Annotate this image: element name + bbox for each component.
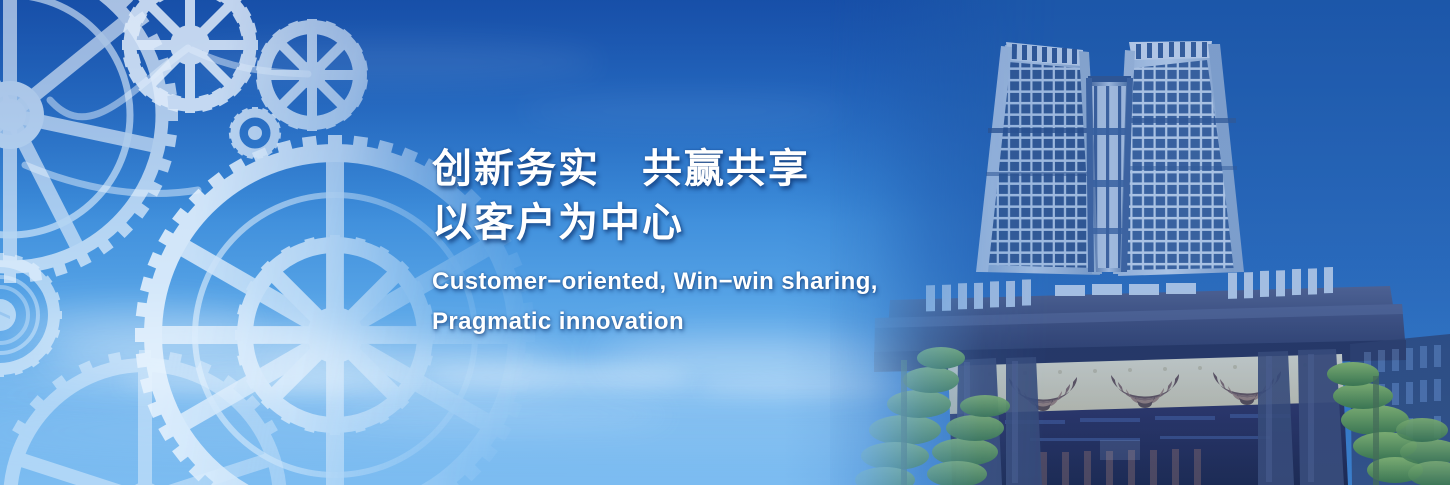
company-culture-banner: 创新务实 共赢共享 以客户为中心 Customer−oriented, Win−…: [0, 0, 1450, 485]
subtitle-line-2: Pragmatic innovation: [432, 302, 952, 342]
headline-line-2: 以客户为中心: [432, 196, 952, 250]
subtitle-line-1: Customer−oriented, Win−win sharing,: [432, 262, 952, 302]
banner-copy: 创新务实 共赢共享 以客户为中心 Customer−oriented, Win−…: [432, 142, 952, 342]
headline-line-1: 创新务实 共赢共享: [432, 142, 952, 196]
